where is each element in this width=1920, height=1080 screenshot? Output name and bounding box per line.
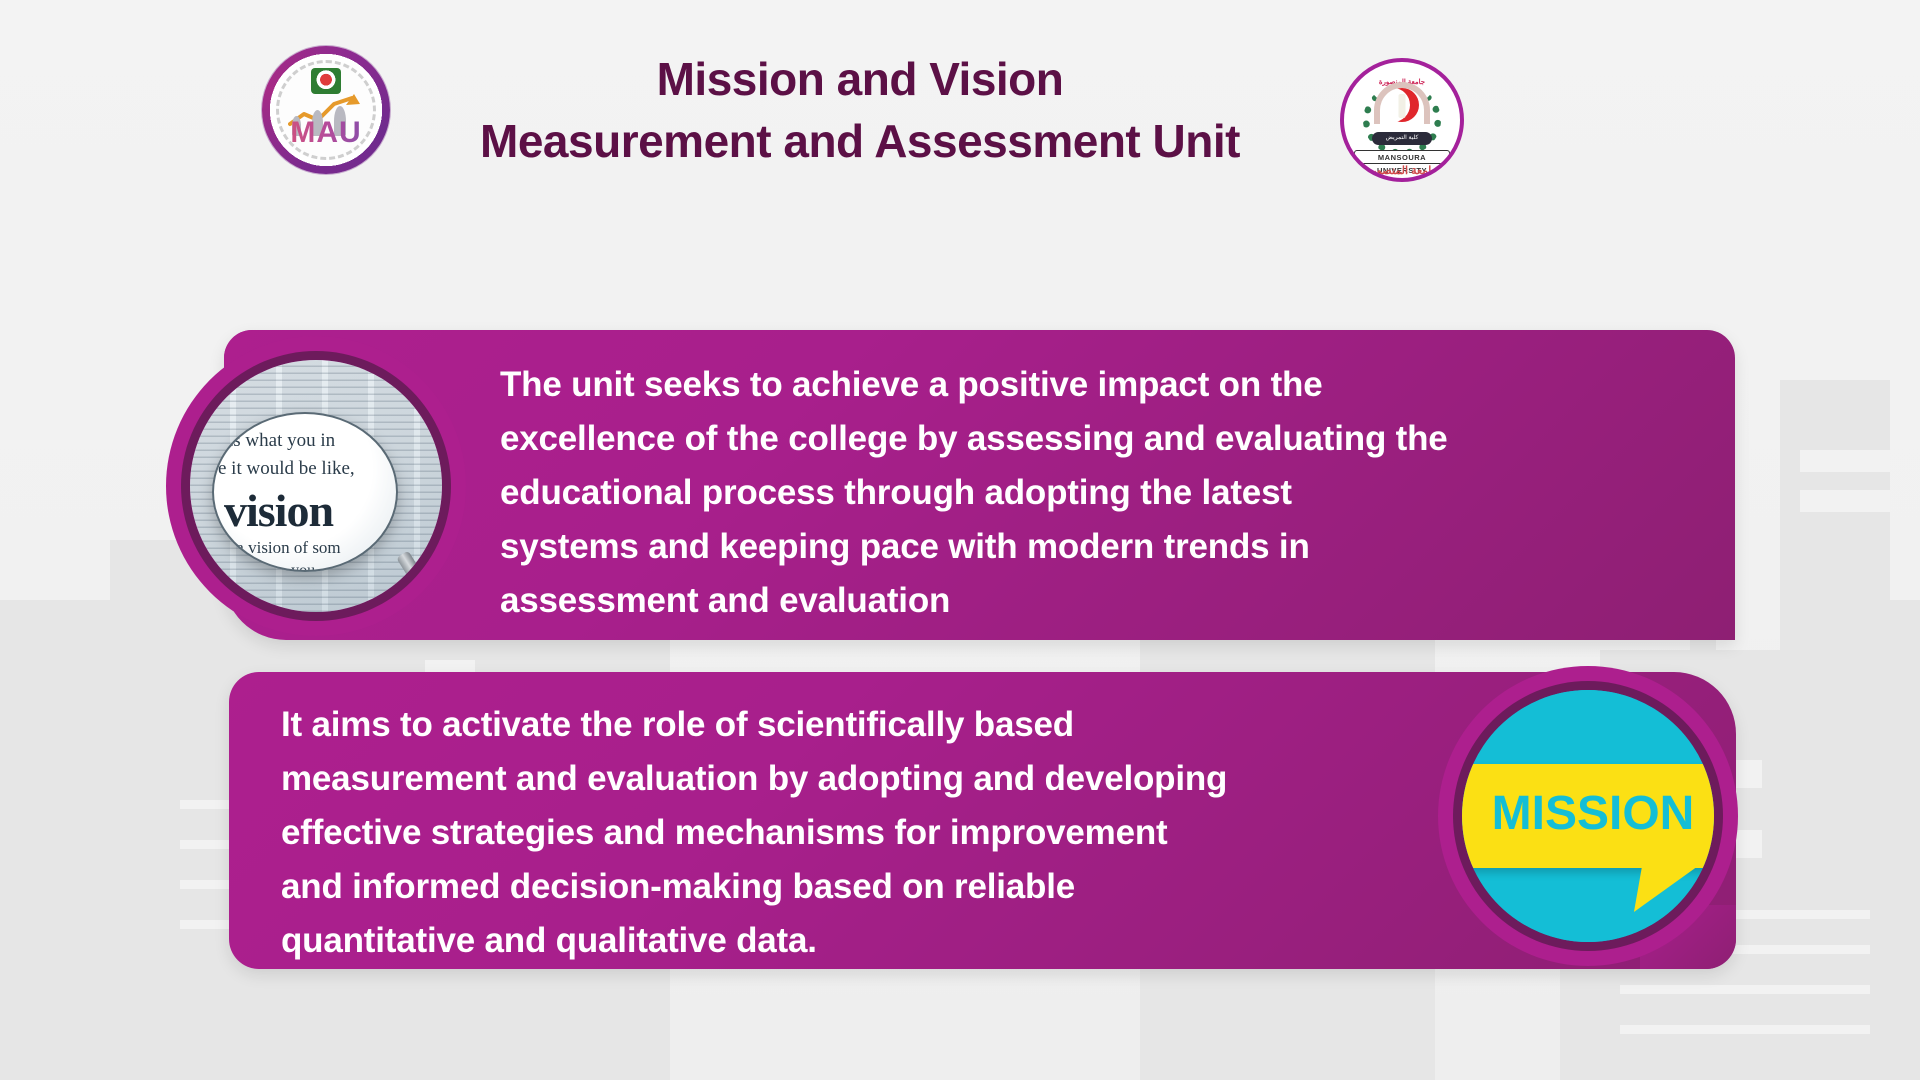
speech-bubble-icon: MISSION	[1462, 764, 1714, 868]
mu-logo-candle-icon	[1399, 94, 1406, 118]
page-title: Mission and Vision Measurement and Asses…	[420, 48, 1300, 172]
lens-word-vision: vision	[224, 484, 333, 537]
vision-line-3: educational process through adopting the…	[500, 466, 1692, 520]
vision-line-1: The unit seeks to achieve a positive imp…	[500, 358, 1692, 412]
mission-line-3: effective strategies and mechanisms for …	[281, 806, 1405, 860]
vision-badge-image: is what you in e it would be like, visio…	[190, 360, 442, 612]
mission-line-1: It aims to activate the role of scientif…	[281, 698, 1405, 752]
mission-badge-label: MISSION	[1462, 786, 1714, 841]
vision-line-4: systems and keeping pace with modern tre…	[500, 520, 1692, 574]
vision-statement: The unit seeks to achieve a positive imp…	[500, 358, 1692, 628]
title-line-2: Measurement and Assessment Unit	[420, 110, 1300, 172]
poster-canvas: MAU Mission and Vision Measurement and A…	[0, 0, 1920, 1080]
title-line-1: Mission and Vision	[420, 48, 1300, 110]
mission-line-4: and informed decision-making based on re…	[281, 860, 1405, 914]
speech-bubble-tail-icon	[1634, 866, 1698, 912]
vision-line-2: excellence of the college by assessing a…	[500, 412, 1692, 466]
mu-logo-faculty-band: كلية التمريض	[1372, 132, 1432, 145]
lens-line-4: ve a vision of som	[216, 538, 341, 558]
vision-badge: is what you in e it would be like, visio…	[166, 336, 466, 636]
mau-acronym: MAU	[262, 116, 390, 150]
lens-line-2: e it would be like,	[218, 458, 398, 480]
poster-header: MAU Mission and Vision Measurement and A…	[0, 0, 1920, 220]
mu-logo-arabic-bottom: جامعة المنصورة	[1344, 164, 1460, 177]
vision-line-5: assessment and evaluation	[500, 574, 1692, 628]
mansoura-university-logo-icon: جامعة المنصورة كلية التمريض MANSOURA UNI…	[1340, 58, 1464, 182]
magnifier-lens-icon: is what you in e it would be like, visio…	[212, 412, 398, 572]
mau-logo-icon: MAU	[262, 46, 390, 174]
lens-line-1: is what you in	[228, 430, 398, 452]
mission-line-5: quantitative and qualitative data.	[281, 914, 1405, 968]
mission-badge: MISSION	[1438, 666, 1738, 966]
mu-logo-ribbon: MANSOURA UNIVERSITY	[1354, 150, 1450, 164]
mission-badge-image: MISSION	[1462, 690, 1714, 942]
mau-logo-crest-icon	[311, 68, 341, 94]
mission-line-2: measurement and evaluation by adopting a…	[281, 752, 1405, 806]
mission-statement: It aims to activate the role of scientif…	[281, 698, 1405, 968]
